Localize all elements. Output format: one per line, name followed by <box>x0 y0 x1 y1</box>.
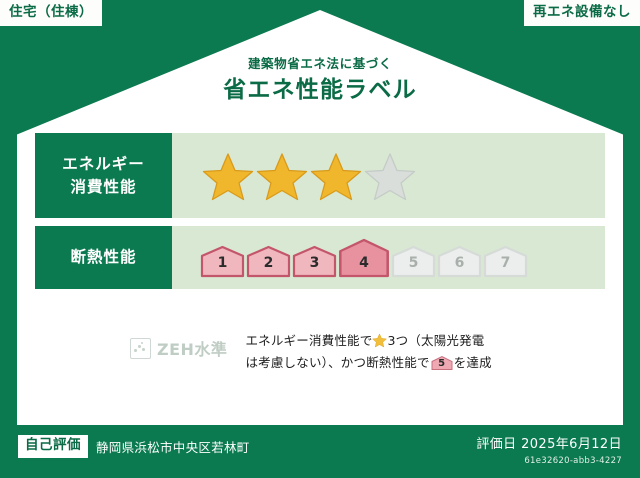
title-main: 省エネ性能ラベル <box>0 77 640 103</box>
title-subtitle: 建築物省エネ法に基づく <box>0 56 640 71</box>
footer-left: 自己評価 静岡県浜松市中央区若林町 <box>18 435 250 458</box>
zeh-badge: ZEH水準 <box>130 330 227 360</box>
star-empty-icon <box>364 151 416 201</box>
building-type-tag: 住宅（住棟） <box>0 0 102 26</box>
rating-rows: エネルギー 消費性能 断熱性能 1234567 <box>35 133 605 297</box>
insulation-level-number: 1 <box>200 255 245 271</box>
inline-house-number: 5 <box>431 355 453 371</box>
zeh-square-icon <box>130 338 151 359</box>
insulation-level-house: 5 <box>391 245 436 278</box>
label-footer: 自己評価 静岡県浜松市中央区若林町 評価日 2025年6月12日 61e3262… <box>0 425 640 478</box>
insulation-label-line1: 断熱性能 <box>70 246 136 268</box>
zeh-desc-part1: エネルギー消費性能で <box>245 333 372 348</box>
evaluation-id: 61e32620-abb3-4227 <box>476 456 622 466</box>
star-filled-icon <box>256 151 308 201</box>
insulation-level-house: 7 <box>483 245 528 278</box>
zeh-desc-part3: を達成 <box>454 355 492 370</box>
energy-performance-stars-area <box>172 133 605 218</box>
insulation-level-number: 7 <box>483 255 528 271</box>
insulation-level-number: 3 <box>292 255 337 271</box>
insulation-level-house: 4 <box>338 238 390 278</box>
insulation-level-house: 2 <box>246 245 291 278</box>
zeh-desc-part2: 3つ（太陽光発電 <box>387 333 484 348</box>
insulation-level-house: 3 <box>292 245 337 278</box>
label-title-block: 建築物省エネ法に基づく 省エネ性能ラベル <box>0 56 640 103</box>
evaluation-date: 評価日 2025年6月12日 <box>476 433 622 452</box>
insulation-level-number: 5 <box>391 255 436 271</box>
energy-label-line1: エネルギー <box>62 153 145 175</box>
star-filled-icon <box>310 151 362 201</box>
insulation-level-number: 4 <box>338 255 390 271</box>
zeh-description: エネルギー消費性能で3つ（太陽光発電 は考慮しない）、かつ断熱性能で5を達成 <box>245 330 605 373</box>
zeh-section: ZEH水準 エネルギー消費性能で3つ（太陽光発電 は考慮しない）、かつ断熱性能で… <box>35 330 605 373</box>
insulation-performance-label-box: 断熱性能 <box>35 226 172 289</box>
property-address: 静岡県浜松市中央区若林町 <box>96 437 250 456</box>
star-rating <box>202 151 416 201</box>
self-assessment-badge: 自己評価 <box>18 435 88 458</box>
insulation-level-number: 6 <box>437 255 482 271</box>
star-filled-icon <box>202 151 254 201</box>
energy-performance-label: 住宅（住棟） 再エネ設備なし 建築物省エネ法に基づく 省エネ性能ラベル エネルギ… <box>0 0 640 478</box>
zeh-desc-line2-part1: は考慮しない）、かつ断熱性能で <box>245 355 429 370</box>
inline-star-icon <box>372 333 387 348</box>
footer-right: 評価日 2025年6月12日 61e32620-abb3-4227 <box>476 433 622 466</box>
inline-house-badge: 5 <box>431 355 453 371</box>
energy-performance-row: エネルギー 消費性能 <box>35 133 605 218</box>
zeh-label: ZEH水準 <box>157 336 227 360</box>
insulation-level-scale: 1234567 <box>200 238 528 278</box>
energy-label-line2: 消費性能 <box>70 176 136 198</box>
renewable-energy-tag: 再エネ設備なし <box>524 0 640 26</box>
insulation-levels-area: 1234567 <box>172 226 605 289</box>
insulation-level-house: 6 <box>437 245 482 278</box>
insulation-performance-row: 断熱性能 1234567 <box>35 226 605 289</box>
energy-performance-label-box: エネルギー 消費性能 <box>35 133 172 218</box>
insulation-level-house: 1 <box>200 245 245 278</box>
insulation-level-number: 2 <box>246 255 291 271</box>
